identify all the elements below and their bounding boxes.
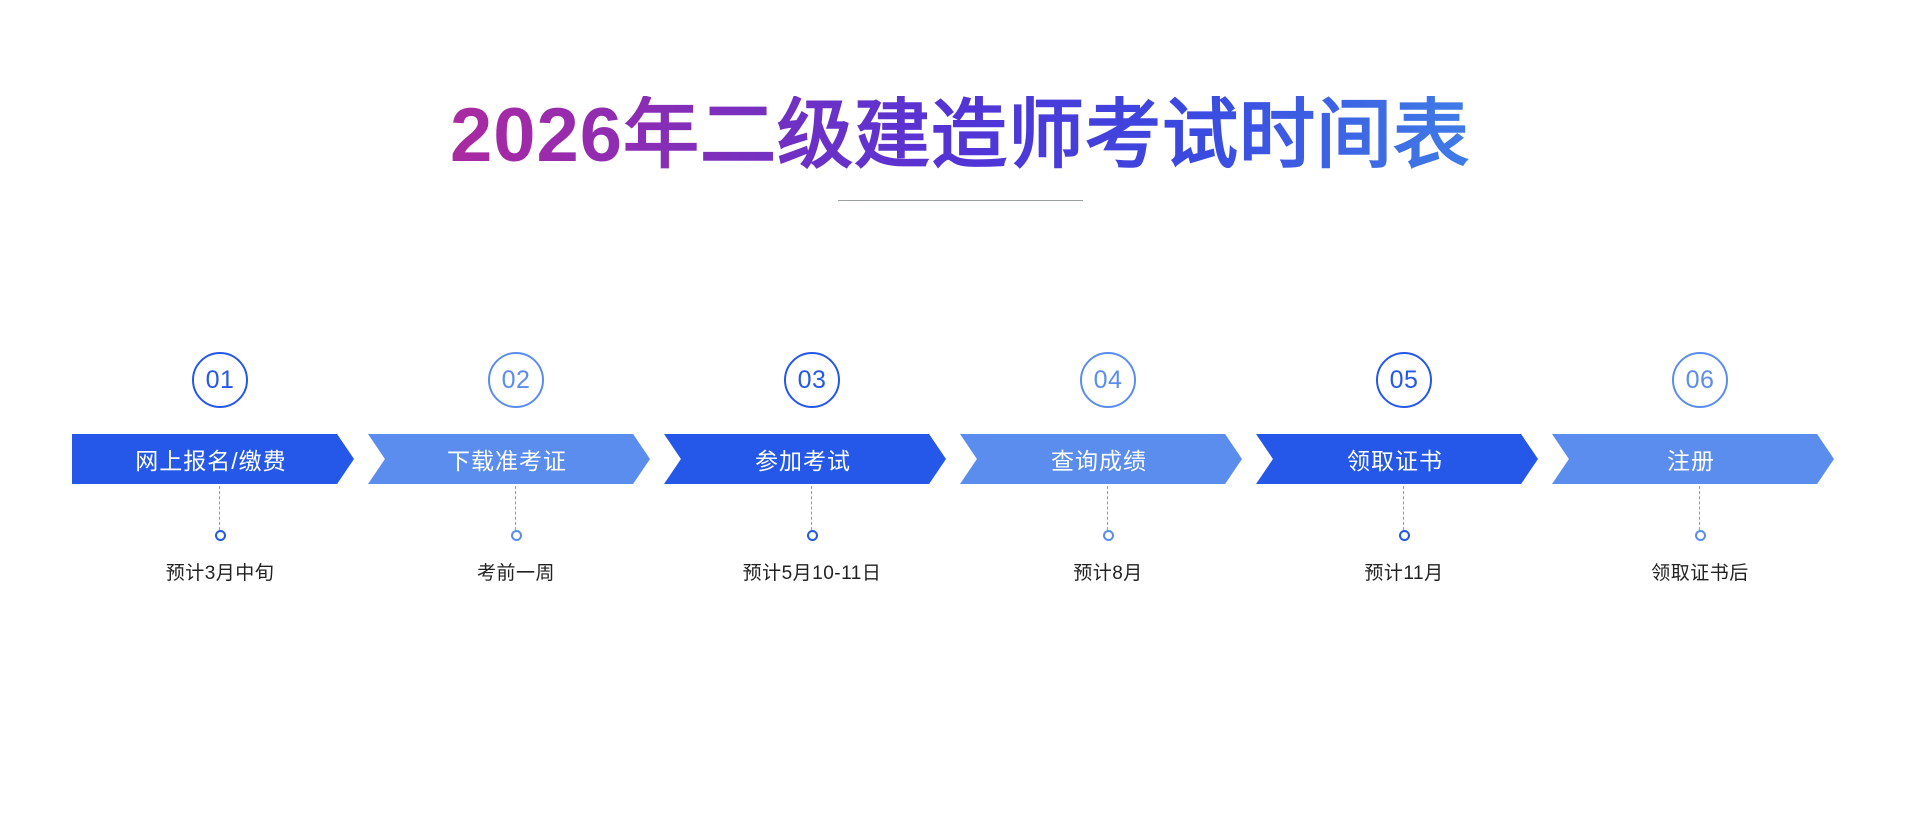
step-connector-line [1699,486,1701,530]
step-banner-label: 网上报名/缴费 [135,442,286,476]
step-number-label: 01 [206,366,235,395]
step-number-circle[interactable]: 05 [1376,352,1432,408]
step-banner-label: 查询成绩 [1051,442,1147,476]
step-marker-dot [807,530,818,541]
step-marker-dot [511,530,522,541]
timeline-step: 02下载准考证考前一周 [368,352,664,585]
step-number-circle[interactable]: 04 [1080,352,1136,408]
step-connector-line [1403,486,1405,530]
step-number-label: 02 [502,366,531,395]
step-number-label: 06 [1686,366,1715,395]
page-title: 2026年二级建造师考试时间表 [0,96,1920,176]
step-banner-wrap: 查询成绩 [960,434,1256,484]
step-caption: 考前一周 [477,558,555,585]
timeline-step: 03参加考试预计5月10-11日 [664,352,960,585]
step-banner[interactable]: 网上报名/缴费 [72,434,354,484]
step-connector-line [515,486,517,530]
step-banner-label: 注册 [1667,442,1715,476]
timeline-step: 05领取证书预计11月 [1256,352,1552,585]
title-block: 2026年二级建造师考试时间表 [0,96,1920,201]
timeline-step: 06注册领取证书后 [1552,352,1848,585]
step-banner-wrap: 注册 [1552,434,1848,484]
timeline: 01网上报名/缴费预计3月中旬02下载准考证考前一周03参加考试预计5月10-1… [0,352,1920,585]
step-caption: 预计11月 [1364,558,1443,585]
timeline-step: 04查询成绩预计8月 [960,352,1256,585]
step-number-label: 03 [798,366,827,395]
step-number-circle[interactable]: 06 [1672,352,1728,408]
step-number-circle[interactable]: 03 [784,352,840,408]
step-banner[interactable]: 下载准考证 [368,434,650,484]
step-caption: 预计3月中旬 [166,558,275,585]
step-banner-label: 下载准考证 [447,442,567,476]
step-marker-dot [1103,530,1114,541]
step-banner-wrap: 下载准考证 [368,434,664,484]
step-banner[interactable]: 参加考试 [664,434,946,484]
title-divider [838,200,1083,201]
step-caption: 领取证书后 [1651,558,1749,585]
step-banner-wrap: 参加考试 [664,434,960,484]
step-banner-wrap: 网上报名/缴费 [72,434,368,484]
step-marker-dot [1695,530,1706,541]
step-banner-wrap: 领取证书 [1256,434,1552,484]
step-marker-dot [215,530,226,541]
step-banner-label: 参加考试 [755,442,851,476]
step-number-label: 05 [1390,366,1419,395]
step-caption: 预计8月 [1073,558,1143,585]
step-banner[interactable]: 领取证书 [1256,434,1538,484]
step-number-circle[interactable]: 01 [192,352,248,408]
step-caption: 预计5月10-11日 [743,558,882,585]
step-connector-line [219,486,221,530]
step-banner[interactable]: 注册 [1552,434,1834,484]
step-banner-label: 领取证书 [1347,442,1443,476]
timeline-step: 01网上报名/缴费预计3月中旬 [72,352,368,585]
step-number-circle[interactable]: 02 [488,352,544,408]
step-connector-line [811,486,813,530]
step-marker-dot [1399,530,1410,541]
step-number-label: 04 [1094,366,1123,395]
step-banner[interactable]: 查询成绩 [960,434,1242,484]
step-connector-line [1107,486,1109,530]
